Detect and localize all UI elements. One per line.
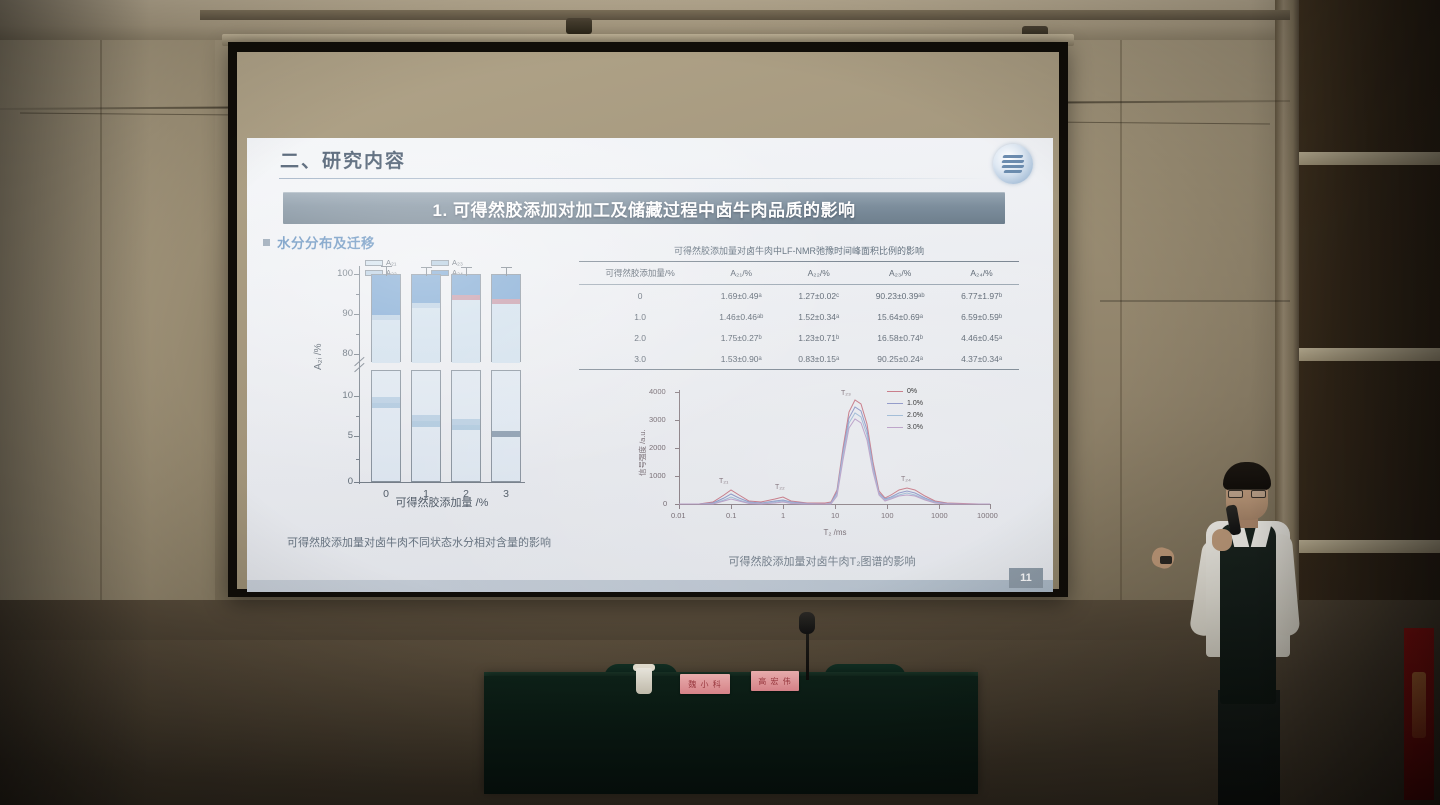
slide-section-title: 二、研究内容 (280, 146, 406, 173)
table-cell: 6.77±1.97ᵇ (944, 285, 1019, 307)
y-tick-label: 0 (663, 499, 667, 508)
curve-3 (679, 419, 990, 504)
table-header-row: 可得然胶添加量/% A₂₁/% A₂₂/% A₂₃/% A₂₄/% (579, 262, 1019, 285)
figure-caption-right: 可得然胶添加量对卤牛肉T₂图谱的影响 (597, 553, 1047, 569)
section-title-band: 1. 可得然胶添加对加工及储藏过程中卤牛肉品质的影响 (283, 192, 1005, 224)
y-tick-label: 100 (327, 268, 353, 279)
t2-spectrum-chart: 4000 3000 2000 1000 0 0.01 0.1 1 10 100 … (639, 384, 1009, 546)
table-header-cell: A₂₄/% (944, 262, 1019, 285)
y-tick-label: 3000 (649, 415, 666, 424)
presentation-clicker (1160, 556, 1172, 564)
university-logo (989, 142, 1037, 186)
t2-plot-area: 4000 3000 2000 1000 0 0.01 0.1 1 10 100 … (679, 390, 991, 506)
curve-2 (679, 413, 990, 504)
t2-y-axis-title: 信号强度 /a.u. (637, 429, 648, 476)
bar-upper-2 (451, 274, 481, 362)
name-placard: 魏 小 科 (680, 674, 730, 694)
title-divider (279, 178, 989, 179)
x-tick-label: 1 (781, 511, 785, 520)
t2-curves (679, 390, 991, 506)
logo-stripes-icon (1001, 153, 1025, 175)
table-cell: 4.46±0.45ᵃ (944, 327, 1019, 348)
table-header-cell: A₂₁/% (701, 262, 781, 285)
bar-plot-area: 100 90 80 10 5 0 (359, 266, 525, 484)
wood-stripe (1298, 540, 1440, 553)
table-cell: 1.69±0.49ᵃ (701, 285, 781, 307)
bar-lower-1 (411, 370, 441, 482)
legend-label: 1.0% (907, 400, 923, 407)
y-tick-label: 4000 (649, 387, 666, 396)
table-row: 3.0 1.53±0.90ᵃ 0.83±0.15ᵃ 90.25±0.24ᵃ 4.… (579, 348, 1019, 370)
y-tick-label: 2000 (649, 443, 666, 452)
x-axis (359, 482, 525, 483)
bar-lower-3 (491, 370, 521, 482)
table-cell: 15.64±0.69ᵃ (856, 306, 944, 327)
slide-page-number: 11 (1009, 568, 1043, 588)
x-tick-label: 0.01 (671, 511, 686, 520)
legend-label: 0% (907, 388, 917, 395)
x-axis-title: 可得然胶添加量 /% (351, 494, 533, 510)
x-tick-label: 1000 (931, 511, 948, 520)
paper-cup (636, 668, 652, 694)
curve-1 (679, 407, 990, 504)
x-tick-label: 0.1 (726, 511, 736, 520)
bullet-heading: 水分分布及迁移 (263, 232, 375, 252)
x-tick-label: 10 (831, 511, 839, 520)
wood-stripe (1298, 152, 1440, 165)
bullet-heading-label: 水分分布及迁移 (277, 232, 375, 252)
table-row: 2.0 1.75±0.27ᵇ 1.23±0.71ᵇ 16.58±0.74ᵇ 4.… (579, 327, 1019, 348)
table-row: 0 1.69±0.49ᵃ 1.27±0.02ᶜ 90.23±0.39ᵃᵇ 6.7… (579, 285, 1019, 307)
y-tick-label: 10 (327, 390, 353, 401)
section-band-label: 1. 可得然胶添加对加工及储藏过程中卤牛肉品质的影响 (283, 192, 1005, 224)
wall-seam (100, 40, 102, 640)
nmr-data-table: 可得然胶添加量对卤牛肉中LF-NMR弛豫时间峰面积比例的影响 可得然胶添加量/%… (579, 244, 1019, 370)
table-cell: 0 (579, 285, 701, 307)
table-cell: 0.83±0.15ᵃ (781, 348, 856, 370)
table-header-cell: A₂₃/% (856, 262, 944, 285)
table-cell: 1.27±0.02ᶜ (781, 285, 856, 307)
presenter-legs (1218, 690, 1280, 805)
y-axis (359, 266, 360, 484)
wood-stripe (1298, 348, 1440, 361)
table-cell: 1.52±0.34ᵃ (781, 306, 856, 327)
table-header-cell: 可得然胶添加量/% (579, 262, 701, 285)
table-cell: 1.75±0.27ᵇ (701, 327, 781, 348)
slide-footer-bar (247, 580, 1053, 592)
bar-lower-2 (451, 370, 481, 482)
table-cell: 1.53±0.90ᵃ (701, 348, 781, 370)
t2-legend: 0% 1.0% 2.0% 3.0% (887, 388, 923, 436)
ceiling-rail (200, 10, 1290, 20)
peak-annotation: T₂₂ (775, 484, 785, 491)
bullet-square-icon (263, 239, 270, 246)
left-wall (0, 40, 215, 640)
presenter-vest (1220, 524, 1276, 704)
y-tick-label: 80 (327, 348, 353, 359)
t2-x-axis-title: T₂ /ms (679, 528, 991, 537)
table-cell: 1.23±0.71ᵇ (781, 327, 856, 348)
x-tick-label: 10000 (977, 511, 998, 520)
conference-table (484, 676, 978, 794)
table-caption: 可得然胶添加量对卤牛肉中LF-NMR弛豫时间峰面积比例的影响 (579, 244, 1019, 257)
table-cell: 1.46±0.46ᵃᵇ (701, 306, 781, 327)
name-placard: 高 宏 伟 (751, 671, 799, 691)
table-cell: 1.0 (579, 306, 701, 327)
bar-upper-0 (371, 274, 401, 362)
table-cell: 2.0 (579, 327, 701, 348)
table-cell: 6.59±0.59ᵇ (944, 306, 1019, 327)
y-tick-label: 0 (327, 476, 353, 487)
y-axis-title: A₂ᵢ /% (313, 343, 324, 370)
legend-label: 3.0% (907, 424, 923, 431)
peak-annotation: T₂₃ (841, 390, 851, 397)
table-cell: 4.37±0.34ᵃ (944, 348, 1019, 370)
moisture-bar-chart: A₂₁ A₂₂ A₂₃ A₂₄ (317, 258, 547, 523)
table-header-cell: A₂₂/% (781, 262, 856, 285)
banner-emblem-icon (1412, 672, 1426, 738)
figure-caption-left: 可得然胶添加量对卤牛肉不同状态水分相对含量的影响 (259, 534, 579, 550)
table-cell: 16.58±0.74ᵇ (856, 327, 944, 348)
microphone-head-icon (799, 612, 815, 634)
bar-lower-0 (371, 370, 401, 482)
curve-0 (679, 400, 990, 504)
bar-upper-1 (411, 274, 441, 362)
glasses-icon (1228, 489, 1266, 498)
table-cell: 90.25±0.24ᵃ (856, 348, 944, 370)
lecture-hall-scene: 二、研究内容 1. 可得然胶添加对加工及储藏过程中卤牛肉品质的影响 水分分布及迁… (0, 0, 1440, 805)
y-tick-label: 5 (327, 430, 353, 441)
presenter-hand-holding-mic (1212, 529, 1232, 551)
presentation-slide[interactable]: 二、研究内容 1. 可得然胶添加对加工及储藏过程中卤牛肉品质的影响 水分分布及迁… (247, 138, 1053, 592)
peak-annotation: T₂₄ (901, 476, 911, 483)
table-cell: 90.23±0.39ᵃᵇ (856, 285, 944, 307)
wall-groove (1100, 300, 1290, 302)
peak-annotation: T₂₁ (719, 478, 728, 485)
x-tick-label: 100 (881, 511, 894, 520)
bar-upper-3 (491, 274, 521, 362)
legend-label: 2.0% (907, 412, 923, 419)
wall-seam (1120, 40, 1122, 600)
y-tick-label: 1000 (649, 471, 666, 480)
table-cell: 3.0 (579, 348, 701, 370)
y-tick-label: 90 (327, 308, 353, 319)
ceiling-speaker (566, 18, 592, 34)
table-row: 1.0 1.46±0.46ᵃᵇ 1.52±0.34ᵃ 15.64±0.69ᵃ 6… (579, 306, 1019, 327)
